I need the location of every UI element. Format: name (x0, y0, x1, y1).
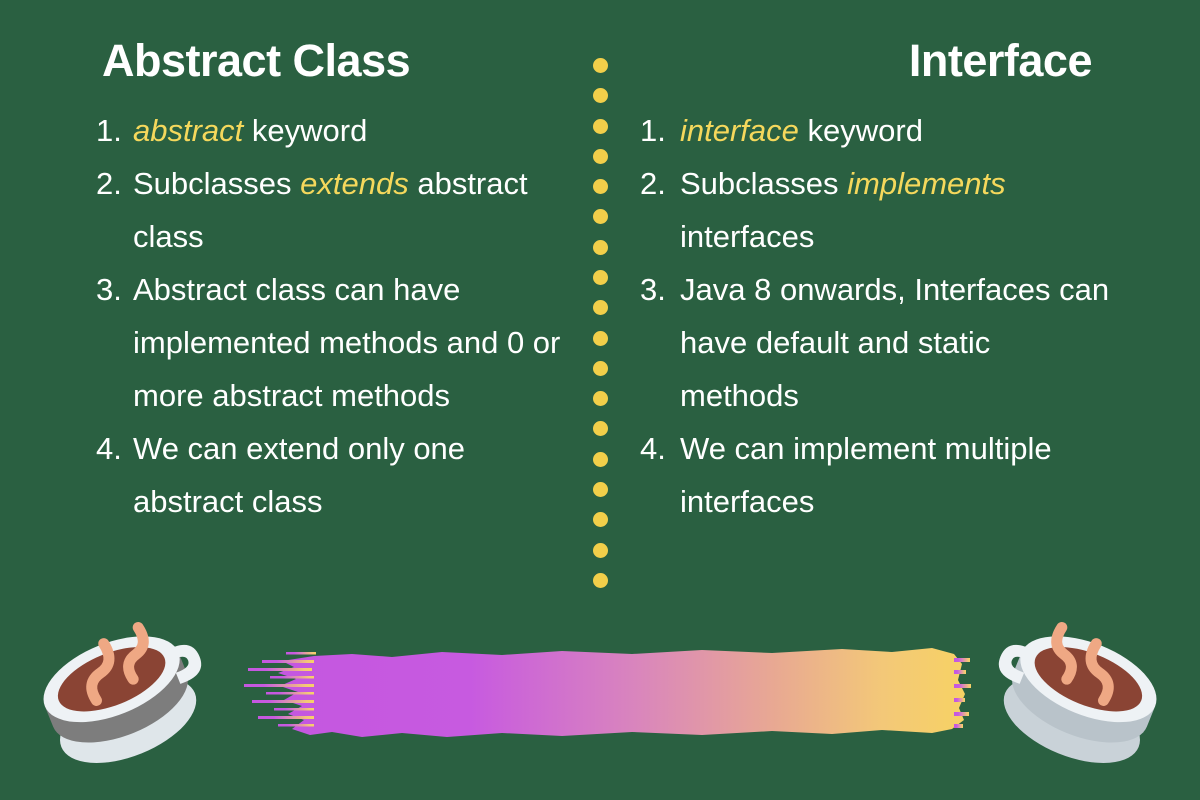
list-item-number: 1. (96, 104, 130, 157)
divider-dot (593, 421, 608, 436)
infographic-canvas: Abstract Class 1. abstract keyword 2. Su… (0, 0, 1200, 800)
list-item-text: Java 8 onwards, Interfaces can have defa… (680, 272, 1109, 413)
keyword-implements: implements (847, 166, 1006, 201)
divider-dot (593, 149, 608, 164)
divider-dot (593, 361, 608, 376)
list-item: 1. interface keyword (640, 104, 1110, 157)
list-item-text: keyword (799, 113, 923, 148)
divider-dot (593, 331, 608, 346)
list-item-number: 4. (96, 422, 130, 475)
coffee-cup-left-icon (18, 600, 218, 790)
divider-dot (593, 179, 608, 194)
list-item-number: 2. (640, 157, 674, 210)
divider-dot (593, 543, 608, 558)
keyword-interface: interface (680, 113, 799, 148)
divider-dot (593, 119, 608, 134)
divider-dot (593, 300, 608, 315)
list-item: 4. We can extend only one abstract class (96, 422, 566, 528)
keyword-abstract: abstract (133, 113, 243, 148)
list-item: 2. Subclasses implements interfaces (640, 157, 1110, 263)
divider-dot (593, 573, 608, 588)
list-item-text: keyword (243, 113, 367, 148)
keyword-extends: extends (300, 166, 409, 201)
coffee-cup-right-icon (982, 600, 1182, 790)
divider-dot (593, 482, 608, 497)
list-item-number: 3. (96, 263, 130, 316)
list-item: 2. Subclasses extends abstract class (96, 157, 566, 263)
divider-dot (593, 209, 608, 224)
list-item-number: 2. (96, 157, 130, 210)
list-item-text: Subclasses (133, 166, 300, 201)
list-item-number: 3. (640, 263, 674, 316)
list-item: 3. Abstract class can have implemented m… (96, 263, 566, 422)
list-item-number: 4. (640, 422, 674, 475)
list-item: 4. We can implement multiple interfaces (640, 422, 1110, 528)
list-item-number: 1. (640, 104, 674, 157)
dotted-divider (592, 58, 608, 588)
divider-dot (593, 58, 608, 73)
column-title-interface: Interface (640, 34, 1110, 88)
divider-dot (593, 452, 608, 467)
divider-dot (593, 391, 608, 406)
list-item-text: interfaces (680, 219, 814, 254)
divider-dot (593, 88, 608, 103)
column-abstract-class: Abstract Class 1. abstract keyword 2. Su… (96, 34, 566, 528)
divider-dot (593, 270, 608, 285)
list-item: 3. Java 8 onwards, Interfaces can have d… (640, 263, 1110, 422)
brush-stroke (232, 634, 972, 750)
list-item-text: Abstract class can have implemented meth… (133, 272, 560, 413)
divider-dot (593, 512, 608, 527)
list-item-text: Subclasses (680, 166, 847, 201)
list-interface: 1. interface keyword 2. Subclasses imple… (640, 104, 1110, 528)
list-abstract-class: 1. abstract keyword 2. Subclasses extend… (96, 104, 566, 528)
list-item: 1. abstract keyword (96, 104, 566, 157)
column-interface: Interface 1. interface keyword 2. Subcla… (640, 34, 1110, 528)
list-item-text: We can extend only one abstract class (133, 431, 465, 519)
divider-dot (593, 240, 608, 255)
list-item-text: We can implement multiple interfaces (680, 431, 1052, 519)
column-title-abstract-class: Abstract Class (96, 34, 566, 88)
